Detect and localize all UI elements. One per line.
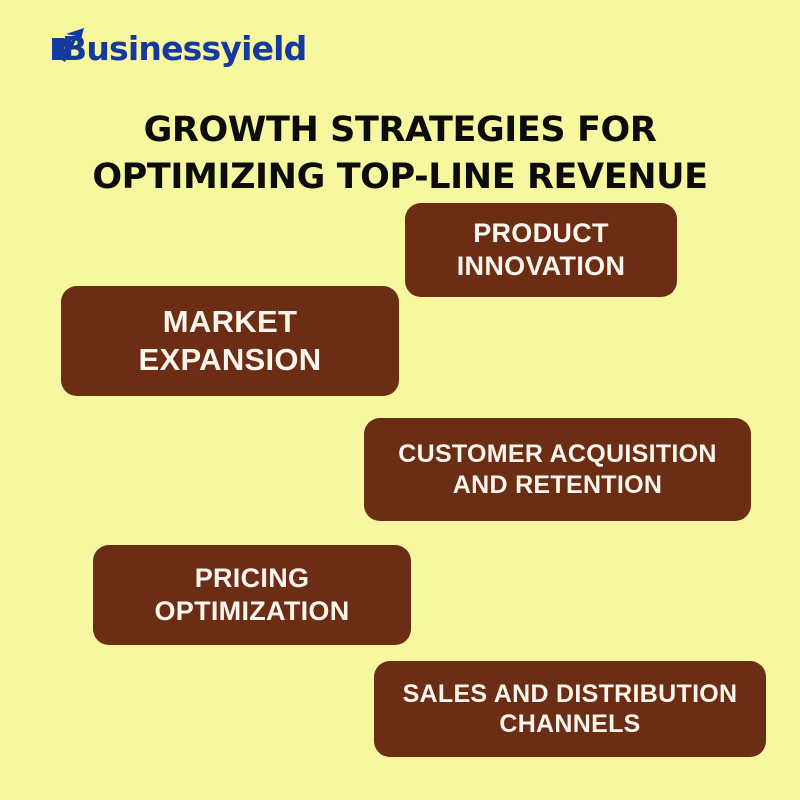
strategy-label: CUSTOMER ACQUISITION AND RETENTION	[378, 439, 737, 500]
page-title-line-2: OPTIMIZING TOP-LINE REVENUE	[0, 154, 800, 200]
page-title: GROWTH STRATEGIES FOR OPTIMIZING TOP-LIN…	[0, 107, 800, 199]
strategy-box-customer-acquisition-and-retention[interactable]: CUSTOMER ACQUISITION AND RETENTION	[364, 418, 751, 521]
brand-name: Businessyield	[62, 32, 307, 65]
b-arrow-logo-icon	[46, 24, 88, 72]
strategy-box-market-expansion[interactable]: MARKET EXPANSION	[61, 286, 399, 396]
strategy-box-product-innovation[interactable]: PRODUCT INNOVATION	[405, 203, 677, 297]
strategy-box-sales-and-distribution-channels[interactable]: SALES AND DISTRIBUTION CHANNELS	[374, 661, 766, 757]
strategy-label: MARKET EXPANSION	[75, 303, 385, 379]
strategy-label: SALES AND DISTRIBUTION CHANNELS	[388, 679, 752, 740]
strategy-box-pricing-optimization[interactable]: PRICING OPTIMIZATION	[93, 545, 411, 645]
brand-logo[interactable]: Businessyield	[46, 22, 307, 74]
page-title-line-1: GROWTH STRATEGIES FOR	[0, 107, 800, 153]
strategy-label: PRICING OPTIMIZATION	[107, 562, 397, 628]
strategy-label: PRODUCT INNOVATION	[419, 217, 663, 283]
